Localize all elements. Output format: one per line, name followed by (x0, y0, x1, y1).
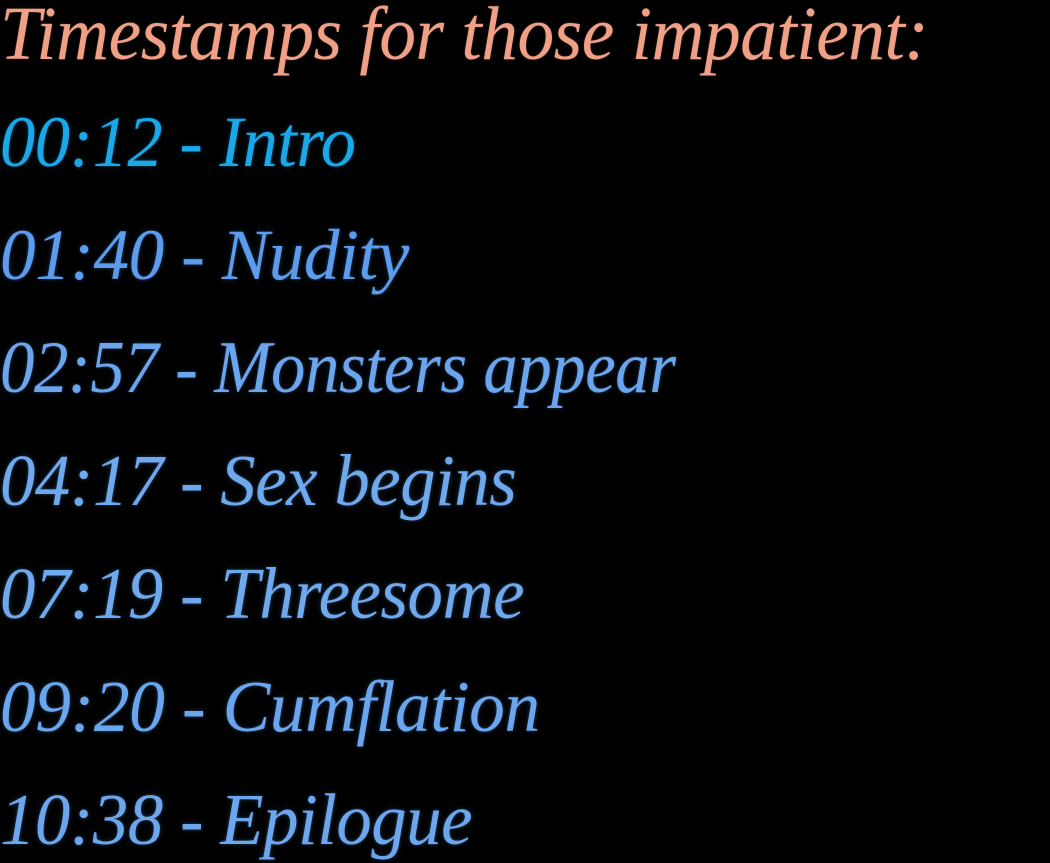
chapter-separator: - (180, 440, 203, 521)
chapter-separator: - (179, 102, 202, 182)
chapter-label: Monsters appear (214, 327, 675, 409)
chapter-row: 04:17 - Sex begins (0, 444, 516, 517)
timestamp-slate: Timestamps for those impatient: 00:12 - … (0, 0, 1050, 863)
chapter-label: Threesome (220, 553, 524, 634)
chapter-row: 10:38 - Epilogue (0, 783, 472, 856)
chapter-label: Cumflation (223, 666, 540, 747)
chapter-label: Intro (219, 102, 355, 182)
chapter-timecode: 09:20 (0, 666, 164, 747)
chapter-timecode: 02:57 (0, 327, 158, 409)
chapter-separator: - (175, 327, 197, 409)
chapter-timecode: 04:17 (0, 440, 163, 521)
chapter-timecode: 10:38 (0, 779, 163, 860)
chapter-timecode: 07:19 (0, 553, 163, 634)
chapter-separator: - (180, 553, 203, 634)
chapter-separator: - (180, 779, 203, 860)
chapter-row: 00:12 - Intro (0, 106, 356, 178)
chapter-label: Sex begins (220, 440, 516, 521)
chapter-separator: - (182, 666, 205, 747)
chapter-separator: - (181, 215, 204, 295)
chapter-row: 09:20 - Cumflation (0, 670, 540, 743)
chapter-row: 01:40 - Nudity (0, 219, 409, 291)
chapter-label: Nudity (222, 215, 409, 295)
chapter-timecode: 00:12 (0, 102, 162, 182)
chapter-row: 07:19 - Threesome (0, 557, 524, 630)
chapter-label: Epilogue (220, 779, 472, 860)
chapter-row: 02:57 - Monsters appear (0, 331, 676, 405)
header-title: Timestamps for those impatient: (0, 0, 928, 72)
chapter-timecode: 01:40 (0, 215, 164, 295)
